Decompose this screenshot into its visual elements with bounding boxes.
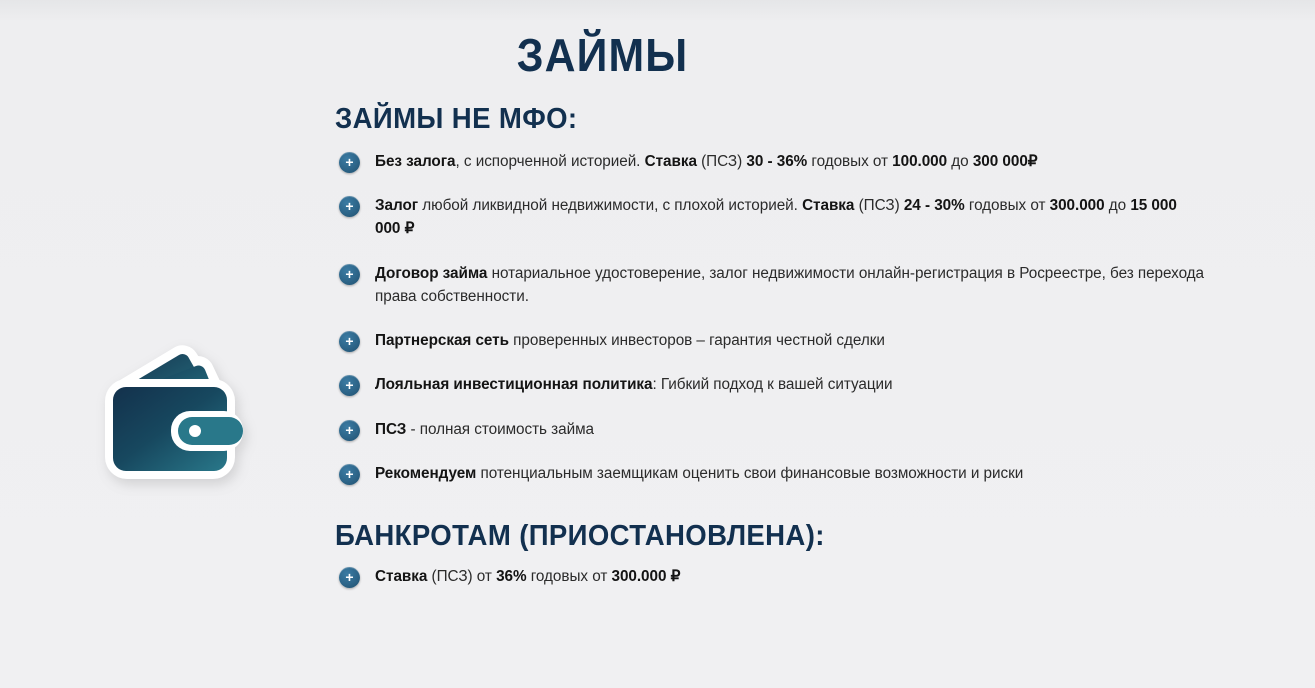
list-item-text: Залог любой ликвидной недвижимости, с пл… [375,197,1177,237]
list-item-text: ПСЗ - полная стоимость займа [375,421,594,438]
list-item-text: Лояльная инвестиционная политика: Гибкий… [375,376,893,393]
section-heading-bankrupts: БАНКРОТАМ (ПРИОСТАНОВЛЕНА): [335,521,1162,553]
feature-list-loans-not-mfo: + Без залога, с испорченной историей. Ст… [335,150,1205,485]
list-item[interactable]: + Рекомендуем потенциальным заемщикам оц… [335,462,1205,485]
list-item-text: Партнерская сеть проверенных инвесторов … [375,332,885,349]
list-item[interactable]: + Партнерская сеть проверенных инвесторо… [335,329,1205,352]
list-item[interactable]: + Залог любой ликвидной недвижимости, с … [335,194,1205,241]
list-item-text: Договор займа нотариальное удостоверение… [375,265,1204,305]
plus-icon: + [339,420,360,441]
list-item-text: Ставка (ПСЗ) от 36% годовых от 300.000 ₽ [375,568,680,585]
wallet-icon [82,342,254,497]
list-item-text: Рекомендуем потенциальным заемщикам оцен… [375,465,1023,482]
list-item[interactable]: + Ставка (ПСЗ) от 36% годовых от 300.000… [335,565,1205,588]
plus-icon: + [339,331,360,352]
icon-column [0,104,335,497]
plus-icon: + [339,196,360,217]
list-item[interactable]: + Лояльная инвестиционная политика: Гибк… [335,373,1205,396]
plus-icon: + [339,375,360,396]
page-title: ЗАЙМЫ [0,0,1265,78]
plus-icon: + [339,152,360,173]
text-column: ЗАЙМЫ НЕ МФО: + Без залога, с испорченно… [335,104,1315,598]
section-heading-loans-not-mfo: ЗАЙМЫ НЕ МФО: [335,104,1162,136]
feature-list-bankrupts: + Ставка (ПСЗ) от 36% годовых от 300.000… [335,565,1205,588]
plus-icon: + [339,264,360,285]
list-item-text: Без залога, с испорченной историей. Став… [375,153,1037,170]
list-item[interactable]: + Договор займа нотариальное удостоверен… [335,262,1205,309]
content-wrapper: ЗАЙМЫ НЕ МФО: + Без залога, с испорченно… [0,104,1315,598]
plus-icon: + [339,464,360,485]
list-item[interactable]: + Без залога, с испорченной историей. Ст… [335,150,1205,173]
list-item[interactable]: + ПСЗ - полная стоимость займа [335,418,1205,441]
plus-icon: + [339,567,360,588]
